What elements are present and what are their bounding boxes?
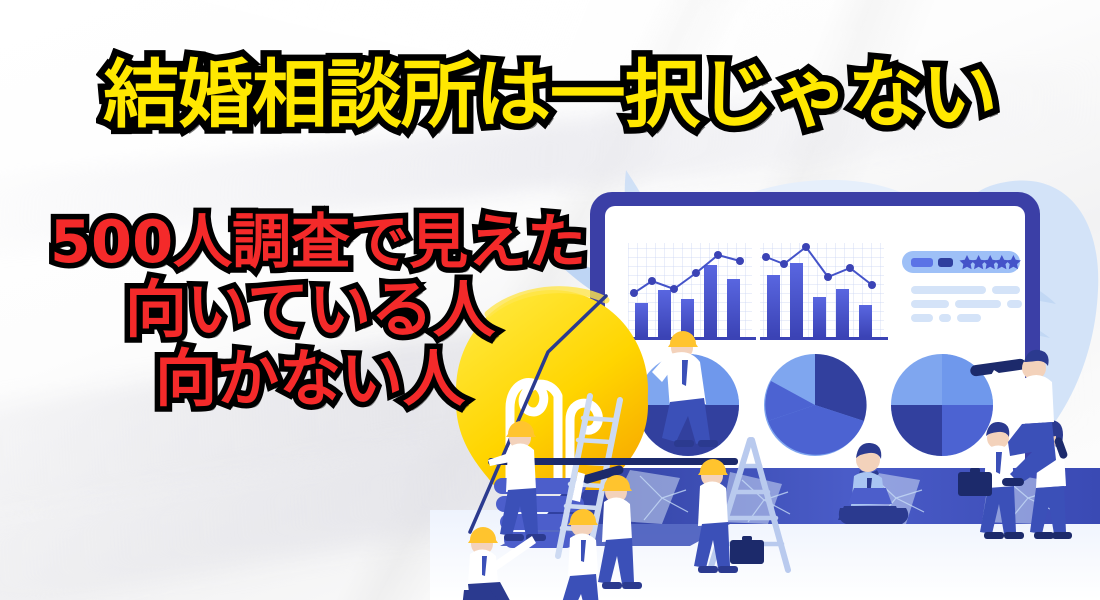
subtitle-line-1: 500人調査で見えた [50, 212, 570, 272]
subtitle-block: 500人調査で見えた 向いている人 向かない人 [50, 212, 570, 411]
briefcase [958, 472, 992, 496]
monitor-dashboard [590, 192, 1040, 482]
subtitle-line-2: 向いている人 [50, 278, 570, 341]
chart-bar-left [628, 243, 756, 340]
page-title: 結婚相談所は一択じゃない [0, 58, 1100, 132]
briefcase [730, 540, 764, 564]
subtitle-line-3: 向かない人 [50, 347, 570, 410]
pie-chart-2 [764, 354, 867, 456]
thumbnail-canvas: 結婚相談所は一択じゃない 500人調査で見えた 向いている人 向かない人 [0, 0, 1100, 600]
chart-bar-right [760, 243, 888, 340]
